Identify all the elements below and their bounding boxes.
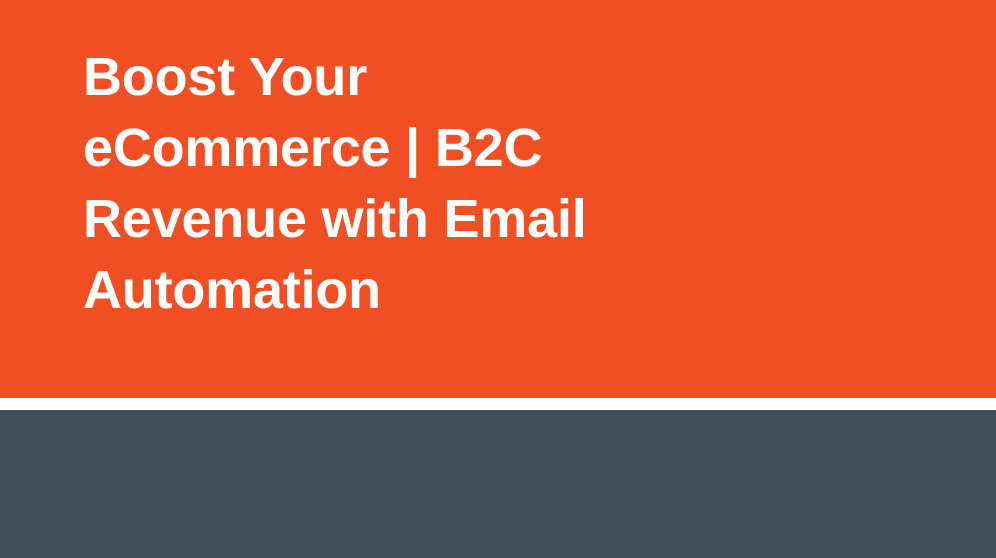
page-title: Boost Your eCommerce | B2C Revenue with … (83, 42, 783, 326)
footer-bar: CAMPAIGN CREATORS (0, 410, 996, 558)
hero-banner: Boost Your eCommerce | B2C Revenue with … (0, 0, 996, 398)
section-divider (0, 398, 996, 410)
presentation-slide: Boost Your eCommerce | B2C Revenue with … (0, 0, 996, 558)
